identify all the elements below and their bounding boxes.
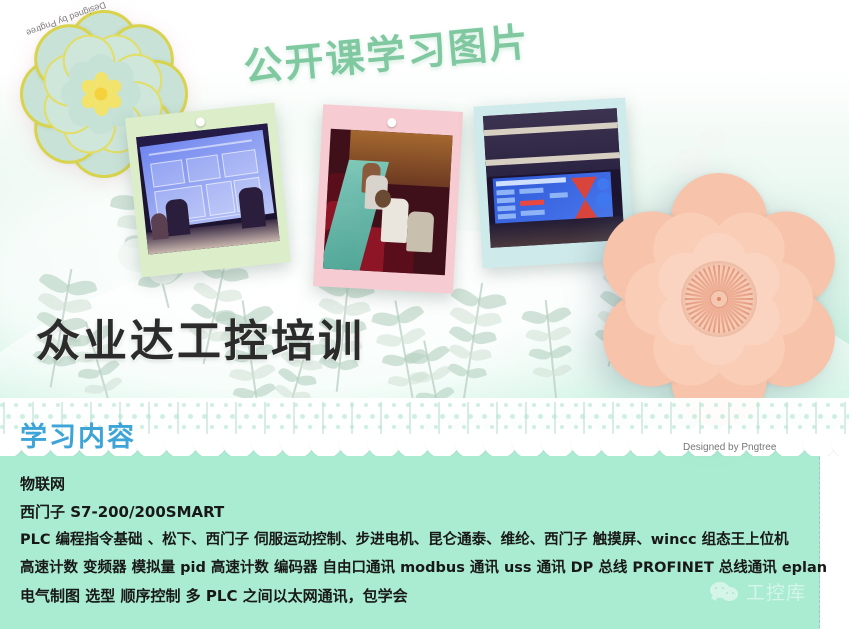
lace-eyelet: [672, 425, 676, 429]
poster-canvas: Designed by Pngtree 公开课学习图片: [0, 0, 849, 629]
white-blossom: [700, 128, 726, 150]
content-line: 高速计数 变频器 模拟量 pid 高速计数 编码器 自由口通讯 modbus 通…: [20, 554, 815, 582]
wechat-icon: [710, 582, 740, 602]
lace-eyelet: [538, 414, 543, 419]
lace-eyelet: [700, 425, 704, 429]
lace-eyelet: [448, 425, 452, 429]
lace-eyelet: [286, 414, 291, 419]
lace-eyelet: [28, 403, 32, 407]
lace-eyelet: [384, 414, 389, 419]
lace-eyelet: [630, 425, 634, 429]
lace-vein: [525, 402, 527, 434]
content-line: 西门子 S7-200/200SMART: [20, 498, 815, 526]
photo1-attendee: [238, 186, 266, 228]
lace-eyelet: [140, 425, 144, 429]
lace-eyelet: [168, 425, 172, 429]
lace-eyelet: [14, 425, 18, 429]
lace-eyelet: [644, 403, 648, 407]
lace-eyelet: [546, 425, 550, 429]
lace-eyelet: [300, 414, 305, 419]
photo-image-auditorium: [323, 129, 453, 276]
lace-eyelet: [720, 414, 725, 419]
lace-eyelet: [392, 403, 396, 407]
lace-vein: [670, 402, 672, 434]
lace-eyelet: [518, 403, 522, 407]
lace-eyelet: [188, 414, 193, 419]
lace-eyelet: [588, 403, 592, 407]
lace-vein: [583, 402, 585, 434]
lace-eyelet: [252, 425, 256, 429]
lace-eyelet: [336, 425, 340, 429]
lace-eyelet: [826, 403, 830, 407]
lace-eyelet: [238, 425, 242, 429]
lace-eyelet: [238, 403, 242, 407]
lace-eyelet: [308, 425, 312, 429]
lace-eyelet: [742, 425, 746, 429]
lace-vein: [699, 402, 701, 434]
lace-vein: [322, 402, 324, 434]
peach-paper-flower: [588, 168, 849, 430]
lace-eyelet: [462, 425, 466, 429]
lace-eyelet: [826, 425, 830, 429]
content-line: 电气制图 选型 顺序控制 多 PLC 之间以太网通讯，包学会: [20, 582, 815, 610]
lace-eyelet: [182, 403, 186, 407]
lace-eyelet: [616, 403, 620, 407]
lace-eyelet: [42, 403, 46, 407]
lace-eyelet: [252, 403, 256, 407]
photo-image-classroom: [136, 123, 280, 254]
lace-eyelet: [196, 425, 200, 429]
lace-vein: [641, 402, 643, 434]
lace-vein: [612, 402, 614, 434]
content-line: 物联网: [20, 470, 815, 498]
lace-eyelet: [314, 414, 319, 419]
panel-dashed-edge: [819, 432, 820, 628]
lace-eyelet: [630, 403, 634, 407]
lace-vein: [177, 402, 179, 434]
lace-eyelet: [454, 414, 459, 419]
lace-eyelet: [602, 425, 606, 429]
lace-eyelet: [56, 403, 60, 407]
lace-eyelet: [672, 403, 676, 407]
lace-eyelet: [84, 403, 88, 407]
lace-eyelet: [714, 425, 718, 429]
peach-flower-center: [681, 261, 757, 337]
lace-eyelet: [272, 414, 277, 419]
lace-eyelet: [266, 403, 270, 407]
photo-pin-icon: [387, 118, 396, 127]
lace-eyelet: [140, 403, 144, 407]
lace-eyelet: [734, 414, 739, 419]
lace-eyelet: [342, 414, 347, 419]
lace-eyelet: [224, 425, 228, 429]
lace-vein: [380, 402, 382, 434]
lace-eyelet: [14, 403, 18, 407]
lace-eyelet: [770, 425, 774, 429]
lace-eyelet: [154, 425, 158, 429]
photo-pin-icon: [195, 117, 205, 127]
lace-eyelet: [224, 403, 228, 407]
lace-eyelet: [700, 403, 704, 407]
lace-eyelet: [594, 414, 599, 419]
lace-eyelet: [258, 414, 263, 419]
lace-eyelet: [804, 414, 809, 419]
lace-vein: [815, 402, 817, 434]
lace-eyelet: [518, 425, 522, 429]
lace-vein: [148, 402, 150, 434]
lace-eyelet: [462, 403, 466, 407]
lace-vein: [554, 402, 556, 434]
lace-eyelet: [440, 414, 445, 419]
lace-eyelet: [832, 414, 837, 419]
lace-eyelet: [328, 414, 333, 419]
lace-eyelet: [308, 403, 312, 407]
lace-eyelet: [664, 414, 669, 419]
lace-eyelet: [714, 403, 718, 407]
lace-eyelet: [370, 414, 375, 419]
lace-eyelet: [546, 403, 550, 407]
lace-vein: [3, 402, 5, 434]
lace-eyelet: [840, 425, 844, 429]
photo-card-auditorium[interactable]: [313, 104, 463, 294]
lace-vein: [235, 402, 237, 434]
lace-eyelet: [216, 414, 221, 419]
lace-eyelet: [398, 414, 403, 419]
lace-eyelet: [168, 403, 172, 407]
lace-vein: [409, 402, 411, 434]
lace-eyelet: [644, 425, 648, 429]
lace-eyelet: [210, 403, 214, 407]
lace-eyelet: [356, 414, 361, 419]
lace-eyelet: [658, 425, 662, 429]
flower-center-disc: [95, 88, 108, 101]
mint-flower-center: [81, 74, 121, 114]
lace-eyelet: [840, 403, 844, 407]
lace-eyelet: [448, 403, 452, 407]
lace-eyelet: [692, 414, 697, 419]
lace-eyelet: [798, 425, 802, 429]
lace-eyelet: [490, 403, 494, 407]
lace-eyelet: [364, 425, 368, 429]
lace-eyelet: [336, 403, 340, 407]
lace-eyelet: [476, 425, 480, 429]
lace-eyelet: [294, 403, 298, 407]
lace-eyelet: [588, 425, 592, 429]
page-title: 众业达工控培训: [36, 305, 365, 369]
lace-eyelet: [490, 425, 494, 429]
lace-vein: [844, 402, 846, 434]
lace-eyelet: [560, 403, 564, 407]
lace-eyelet: [686, 425, 690, 429]
lace-eyelet: [434, 425, 438, 429]
lace-eyelet: [790, 414, 795, 419]
lace-eyelet: [678, 414, 683, 419]
lace-eyelet: [392, 425, 396, 429]
lace-eyelet: [616, 425, 620, 429]
lace-eyelet: [602, 403, 606, 407]
pngtree-watermark: Designed by Pngtree: [683, 442, 776, 453]
lace-eyelet: [566, 414, 571, 419]
lace-eyelet: [532, 403, 536, 407]
content-line: PLC 编程指令基础 、松下、西门子 伺服运动控制、步进电机、昆仑通泰、维纶、西…: [20, 526, 815, 554]
lace-eyelet: [504, 425, 508, 429]
lace-vein: [438, 402, 440, 434]
lace-eyelet: [476, 403, 480, 407]
lace-eyelet: [244, 414, 249, 419]
lace-eyelet: [532, 425, 536, 429]
lace-eyelet: [280, 425, 284, 429]
lace-eyelet: [686, 403, 690, 407]
lace-eyelet: [196, 403, 200, 407]
lace-eyelet: [650, 414, 655, 419]
lace-eyelet: [762, 414, 767, 419]
lace-eyelet: [420, 403, 424, 407]
lace-eyelet: [6, 414, 11, 419]
lace-eyelet: [798, 403, 802, 407]
wechat-account-name: 工控库: [746, 578, 806, 605]
lace-vein: [728, 402, 730, 434]
lace-eyelet: [412, 414, 417, 419]
right-white-margin: [820, 430, 849, 629]
lace-eyelet: [426, 414, 431, 419]
lace-eyelet: [434, 403, 438, 407]
lace-eyelet: [126, 403, 130, 407]
lace-vein: [786, 402, 788, 434]
lace-eyelet: [574, 425, 578, 429]
lace-eyelet: [742, 403, 746, 407]
lace-eyelet: [482, 414, 487, 419]
lace-vein: [757, 402, 759, 434]
lace-eyelet: [182, 425, 186, 429]
lace-vein: [496, 402, 498, 434]
lace-eyelet: [420, 425, 424, 429]
wechat-watermark: 工控库: [710, 578, 806, 605]
section-heading: 学习内容: [20, 415, 136, 454]
photo2-attendee: [406, 211, 434, 252]
lace-vein: [293, 402, 295, 434]
lace-eyelet: [468, 414, 473, 419]
lace-eyelet: [622, 414, 627, 419]
lace-eyelet: [280, 403, 284, 407]
lace-vein: [264, 402, 266, 434]
lace-eyelet: [658, 403, 662, 407]
lace-eyelet: [70, 403, 74, 407]
lace-eyelet: [706, 414, 711, 419]
content-list: 物联网 西门子 S7-200/200SMART PLC 编程指令基础 、松下、西…: [20, 470, 815, 610]
lace-vein: [351, 402, 353, 434]
photo3-ceiling: [483, 108, 620, 177]
lace-vein: [206, 402, 208, 434]
lace-eyelet: [364, 403, 368, 407]
lace-eyelet: [560, 425, 564, 429]
lace-eyelet: [266, 425, 270, 429]
lace-eyelet: [818, 414, 823, 419]
peach-flower-dot: [717, 297, 721, 301]
lace-eyelet: [574, 403, 578, 407]
lace-eyelet: [510, 414, 515, 419]
lace-eyelet: [776, 414, 781, 419]
lace-eyelet: [748, 414, 753, 419]
lace-eyelet: [770, 403, 774, 407]
photo-card-classroom[interactable]: [125, 103, 291, 278]
lace-vein: [467, 402, 469, 434]
photo1-attendee: [165, 198, 191, 236]
lace-eyelet: [210, 425, 214, 429]
lace-eyelet: [504, 403, 508, 407]
photo1-attendee: [150, 213, 169, 241]
lace-eyelet: [98, 403, 102, 407]
lace-eyelet: [112, 403, 116, 407]
lace-eyelet: [154, 403, 158, 407]
lace-eyelet: [160, 414, 165, 419]
lace-eyelet: [294, 425, 298, 429]
